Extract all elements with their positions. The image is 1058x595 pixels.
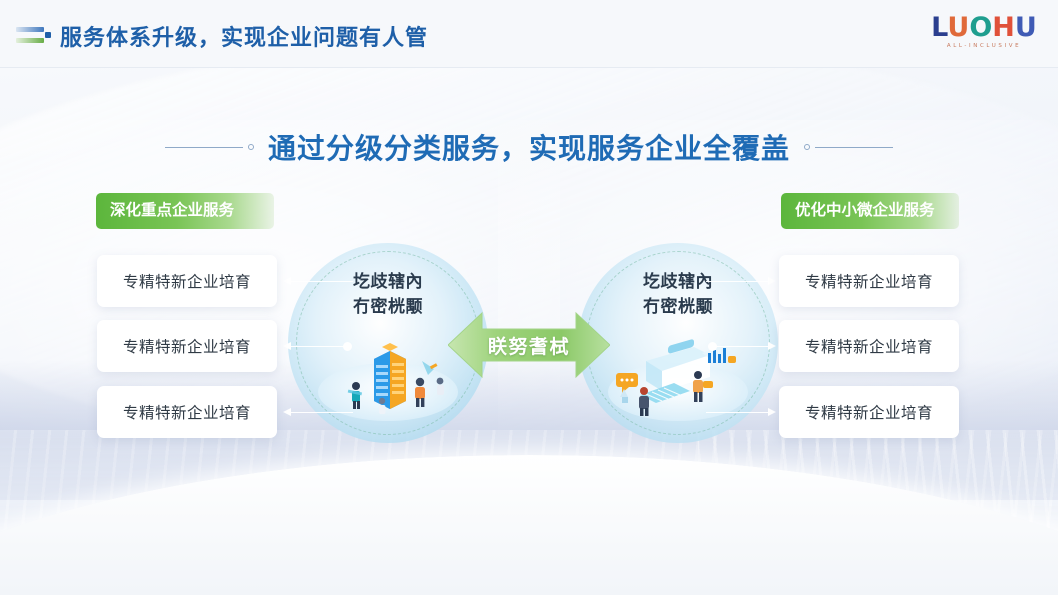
right-card-1[interactable]: 专精特新企业培育 [779, 320, 959, 372]
deco-dot-right [804, 144, 810, 150]
logo-letter-4: H [992, 12, 1015, 43]
left-card-0[interactable]: 专精特新企业培育 [97, 255, 277, 307]
connector-line [714, 346, 768, 347]
badge-left: 深化重点企业服务 [96, 193, 274, 229]
badge-right: 优化中小微企业服务 [781, 193, 959, 229]
arrow-head-left-icon [283, 277, 291, 285]
connector-line [291, 346, 345, 347]
logo-wordmark: LUOHU [928, 14, 1040, 42]
isometric-office-building-illustration [312, 339, 464, 423]
arrow-head-right-icon [768, 277, 776, 285]
bar-mark-icon [16, 25, 52, 47]
deco-dot-left [248, 144, 254, 150]
slide-root: 服务体系升级，实现企业问题有人管 LUOHU ALL-INCLUSIVE 通过分… [0, 0, 1058, 595]
right-card-2[interactable]: 专精特新企业培育 [779, 386, 959, 438]
deco-line-right [815, 147, 893, 148]
luohu-logo: LUOHU ALL-INCLUSIVE [928, 14, 1040, 54]
arrow-head-right-icon [768, 342, 776, 350]
connector-line [706, 412, 768, 413]
right-card-0[interactable]: 专精特新企业培育 [779, 255, 959, 307]
title-decoration-left [165, 144, 254, 150]
center-bidirectional-arrow: 眹努耆栻 [448, 303, 610, 387]
deco-line-left [165, 147, 243, 148]
connector-line [706, 281, 768, 282]
connector-line [291, 281, 353, 282]
left-card-2[interactable]: 专精特新企业培育 [97, 386, 277, 438]
page-title: 服务体系升级，实现企业问题有人管 [60, 20, 428, 52]
main-title: 通过分级分类服务，实现服务企业全覆盖 [268, 127, 790, 167]
arrow-head-left-icon [283, 342, 291, 350]
logo-letter-1: L [931, 12, 947, 43]
logo-letter-3: O [969, 12, 992, 43]
page-header: 服务体系升级，实现企业问题有人管 LUOHU ALL-INCLUSIVE [0, 0, 1058, 68]
connector-node-dot [708, 342, 717, 351]
main-title-row: 通过分级分类服务，实现服务企业全覆盖 [0, 125, 1058, 169]
left-card-1[interactable]: 专精特新企业培育 [97, 320, 277, 372]
title-decoration-right [804, 144, 893, 150]
center-arrow-label: 眹努耆栻 [448, 303, 610, 387]
arrow-head-left-icon [283, 408, 291, 416]
logo-tagline: ALL-INCLUSIVE [928, 43, 1040, 49]
logo-letter-5: U [1015, 12, 1037, 43]
arrow-head-right-icon [768, 408, 776, 416]
isometric-dashboard-analytics-illustration [602, 339, 754, 423]
connector-node-dot [343, 342, 352, 351]
connector-line [291, 412, 353, 413]
logo-letter-2: U [947, 12, 969, 43]
